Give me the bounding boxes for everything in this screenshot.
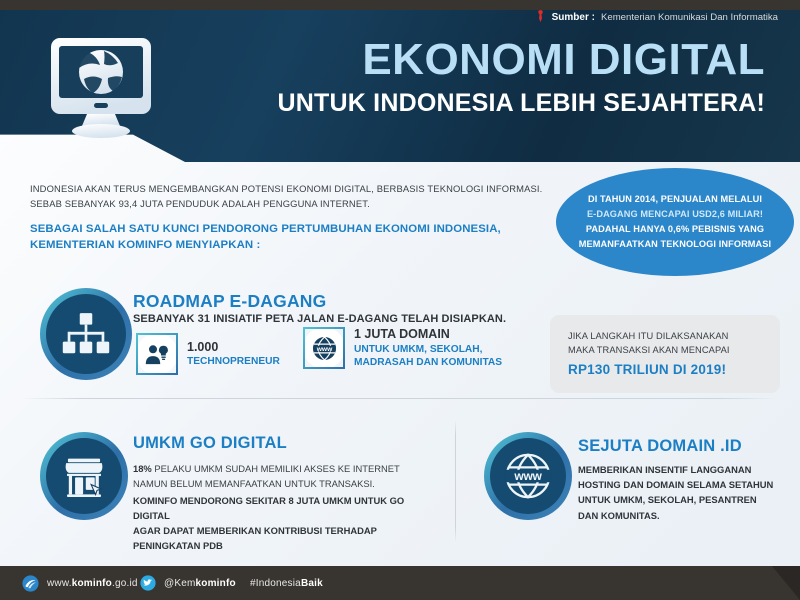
umkm-paragraph-2: KOMINFO MENDORONG SEKITAR 8 JUTA UMKM UN… xyxy=(133,493,443,553)
stat-domain-label-2: MADRASAH DAN KOMUNITAS xyxy=(354,356,502,369)
umkm-paragraph-1: 18% PELAKU UMKM SUDAH MEMILIKI AKSES KE … xyxy=(133,461,433,491)
domain-line-2: HOSTING DAN DOMAIN SELAMA SETAHUN xyxy=(578,479,773,490)
footer-twitter-bold: kominfo xyxy=(196,578,236,589)
projection-line-2: MAKA TRANSAKSI AKAN MENCAPAI xyxy=(568,343,762,357)
footer-website-bold: kominfo xyxy=(72,578,112,589)
footer-website-text: www.kominfo.go.id xyxy=(47,578,138,589)
svg-text:www: www xyxy=(315,345,332,352)
www-globe-icon: www xyxy=(503,451,553,501)
page-subtitle: UNTUK INDONESIA LEBIH SEJAHTERA! xyxy=(225,90,765,118)
stat-domain-label-1: UNTUK UMKM, SEKOLAH, xyxy=(354,343,502,356)
stat-technopreneur-number: 1.000 xyxy=(187,340,280,356)
vertical-divider xyxy=(455,420,456,542)
umkm-stat-percent: 18% xyxy=(133,463,152,474)
footer-hashtag[interactable]: #IndonesiaBaik xyxy=(250,566,323,600)
intro-line-1: INDONESIA AKAN TERUS MENGEMBANGKAN POTEN… xyxy=(30,182,550,197)
umkm-icon-badge xyxy=(40,432,128,520)
footer-website[interactable]: www.kominfo.go.id xyxy=(22,566,138,600)
ellipse-line-3: PADAHAL HANYA 0,6% PEBISNIS YANG xyxy=(579,222,771,237)
projection-highlight: RP130 TRILIUN DI 2019! xyxy=(568,362,762,377)
ellipse-line-1: DI TAHUN 2014, PENJUALAN MELALUI xyxy=(579,192,771,207)
intro-line-2: SEBAB SEBANYAK 93,4 JUTA PENDUDUK ADALAH… xyxy=(30,197,550,212)
www-globe-icon: www xyxy=(303,327,345,369)
domain-icon-badge: www xyxy=(484,432,572,520)
footer-corner-notch xyxy=(772,566,800,600)
projection-line-1: JIKA LANGKAH ITU DILAKSANAKAN xyxy=(568,329,762,343)
stat-technopreneur-label: TECHNOPRENEUR xyxy=(187,355,280,368)
footer-hashtag-bold: Baik xyxy=(301,578,323,589)
roadmap-heading: ROADMAP E-DAGANG xyxy=(133,291,326,312)
footer-twitter-p: @Kem xyxy=(164,578,196,589)
umkm-p2-line1: KOMINFO MENDORONG SEKITAR 8 JUTA UMKM UN… xyxy=(133,495,404,521)
domain-line-1: MEMBERIKAN INSENTIF LANGGANAN xyxy=(578,464,751,475)
ellipse-callout-text: DI TAHUN 2014, PENJUALAN MELALUI E-DAGAN… xyxy=(565,192,785,252)
footer-source-value: Kementerian Komunikasi Dan Informatika xyxy=(601,12,778,23)
umkm-heading: UMKM GO DIGITAL xyxy=(133,434,287,453)
header-title-block: EKONOMI DIGITAL UNTUK INDONESIA LEBIH SE… xyxy=(225,38,765,118)
umkm-p1-line2: NAMUN BELUM MEMANFAATKAN UNTUK TRANSAKSI… xyxy=(133,478,375,489)
ellipse-line-4: MEMANFAATKAN TEKNOLOGI INFORMASI xyxy=(579,237,771,252)
footer-website-p1: www. xyxy=(47,578,72,589)
stat-technopreneur-text: 1.000 TECHNOPRENEUR xyxy=(187,340,280,369)
footer-twitter-text: @Kemkominfo xyxy=(164,578,236,589)
horizontal-divider xyxy=(22,398,778,399)
infographic-page: EKONOMI DIGITAL UNTUK INDONESIA LEBIH SE… xyxy=(0,0,800,600)
org-chart-icon xyxy=(61,312,111,357)
stat-technopreneur: 1.000 TECHNOPRENEUR xyxy=(136,333,280,375)
pin-icon xyxy=(535,10,546,25)
stat-domain-number: 1 JUTA DOMAIN xyxy=(354,327,502,343)
stat-domain: www 1 JUTA DOMAIN UNTUK UMKM, SEKOLAH, M… xyxy=(303,327,502,369)
ellipse-callout: DI TAHUN 2014, PENJUALAN MELALUI E-DAGAN… xyxy=(556,168,794,276)
umkm-p1-rest: PELAKU UMKM SUDAH MEMILIKI AKSES KE INTE… xyxy=(152,463,400,474)
roadmap-subheading: SEBANYAK 31 INISIATIF PETA JALAN E-DAGAN… xyxy=(133,313,506,325)
domain-line-4: DAN KOMUNITAS. xyxy=(578,510,660,521)
monitor-globe-icon xyxy=(42,32,160,142)
umkm-p2-line2: AGAR DAPAT MEMBERIKAN KONTRIBUSI TERHADA… xyxy=(133,525,377,551)
footer-source-label: Sumber : xyxy=(552,12,595,23)
stat-domain-text: 1 JUTA DOMAIN UNTUK UMKM, SEKOLAH, MADRA… xyxy=(354,327,502,369)
twitter-icon xyxy=(140,575,156,591)
footer-hashtag-p: #Indonesia xyxy=(250,578,301,589)
roadmap-icon-badge xyxy=(40,288,132,380)
intro-heading-line-2: KEMENTERIAN KOMINFO MENYIAPKAN : xyxy=(30,238,550,253)
footer-source: Sumber : Kementerian Komunikasi Dan Info… xyxy=(535,0,778,34)
domain-paragraph: MEMBERIKAN INSENTIF LANGGANAN HOSTING DA… xyxy=(578,462,793,523)
projection-box: JIKA LANGKAH ITU DILAKSANAKAN MAKA TRANS… xyxy=(550,315,780,393)
intro-block: INDONESIA AKAN TERUS MENGEMBANGKAN POTEN… xyxy=(30,182,550,253)
footer-website-p2: .go.id xyxy=(112,578,138,589)
person-lightbulb-icon xyxy=(136,333,178,375)
domain-heading: SEJUTA DOMAIN .ID xyxy=(578,437,742,456)
page-title: EKONOMI DIGITAL xyxy=(225,38,765,82)
domain-line-3: UNTUK UMKM, SEKOLAH, PESANTREN xyxy=(578,494,757,505)
svg-text:www: www xyxy=(513,469,542,483)
footer-hashtag-text: #IndonesiaBaik xyxy=(250,578,323,589)
ellipse-line-2: E-DAGANG MENCAPAI USD2,6 MILIAR! xyxy=(579,207,771,222)
storefront-cursor-icon xyxy=(59,454,109,499)
kominfo-logo-icon xyxy=(22,575,39,592)
footer-twitter[interactable]: @Kemkominfo xyxy=(140,566,236,600)
intro-heading-line-1: SEBAGAI SALAH SATU KUNCI PENDORONG PERTU… xyxy=(30,222,550,237)
